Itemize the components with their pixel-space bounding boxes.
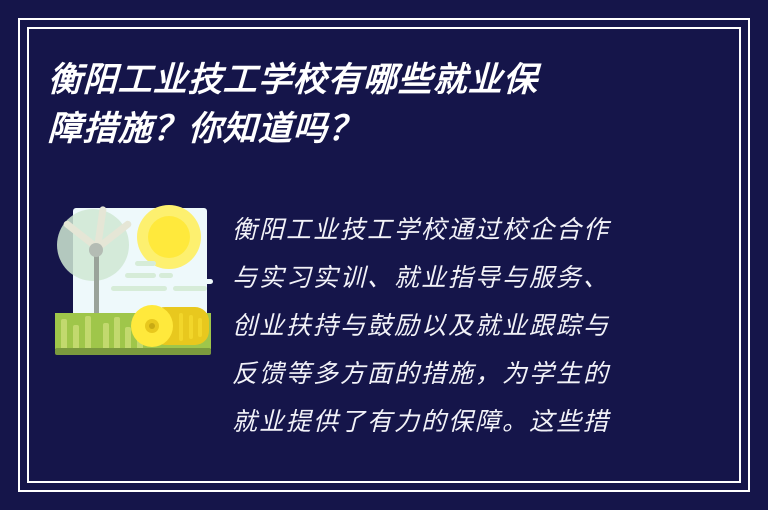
cloud-streak	[135, 261, 156, 266]
body-line-3: 创业扶持与鼓励以及就业跟踪与	[232, 302, 652, 350]
page-title: 衡阳工业技工学校有哪些就业保 障措施？你知道吗？	[48, 56, 688, 154]
body-line-2: 与实习实训、就业指导与服务、	[232, 254, 652, 302]
hay-bale-center	[149, 323, 155, 329]
poster-canvas: 衡阳工业技工学校有哪些就业保 障措施？你知道吗？	[0, 0, 768, 510]
grass-blade	[73, 325, 79, 349]
cloud-streak	[111, 286, 167, 291]
sun-icon	[148, 216, 190, 258]
hay-bale-ring	[179, 313, 183, 341]
title-line-2: 障措施？你知道吗？	[47, 105, 689, 154]
cloud-streak	[159, 273, 173, 278]
grass-blade	[61, 319, 67, 349]
body-line-1: 衡阳工业技工学校通过校企合作	[232, 206, 652, 254]
turbine-hub	[89, 243, 103, 257]
body-line-4: 反馈等多方面的措施，为学生的	[232, 350, 652, 398]
grass-blade	[114, 317, 120, 349]
body-line-5: 就业提供了有力的保障。这些措	[232, 398, 652, 446]
grass-blade	[103, 323, 109, 349]
grass-blade	[125, 327, 131, 349]
grass-blade	[85, 316, 91, 349]
hay-bale-ring	[198, 318, 202, 337]
cloud-streak	[125, 273, 156, 278]
ground-line	[55, 348, 211, 355]
hay-bale-ring	[189, 315, 193, 339]
wind-turbine-farm-illustration	[55, 203, 211, 357]
title-line-1: 衡阳工业技工学校有哪些就业保	[47, 56, 689, 105]
cloud-streak	[173, 286, 207, 291]
cloud-streak	[202, 279, 213, 284]
body-copy: 衡阳工业技工学校通过校企合作 与实习实训、就业指导与服务、 创业扶持与鼓励以及就…	[232, 206, 652, 446]
